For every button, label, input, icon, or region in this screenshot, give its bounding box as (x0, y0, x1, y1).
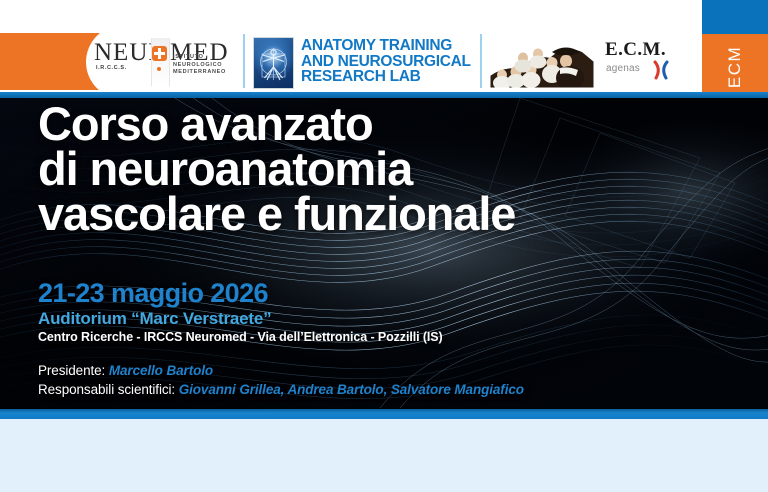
ecm-tab-label: ECM (726, 20, 744, 98)
ecm-agenas-logo[interactable]: E.C.M. agenas (605, 40, 685, 84)
page-title-line1: Corso avanzato (38, 101, 728, 146)
ecm-title: E.C.M. (605, 40, 666, 60)
page-title: Corso avanzato di neuroanatomia vascolar… (38, 101, 728, 236)
vitruvian-man-icon (253, 37, 294, 89)
neuromed-subtitle-line3: MEDITERRANEO (173, 69, 226, 77)
agenas-label: agenas (606, 63, 640, 74)
neuromed-irccs-label: I.R.C.C.S. (96, 65, 127, 71)
neuromed-subtitle: ISTITUTO NEUROLOGICO MEDITERRANEO (173, 54, 226, 77)
anatomy-lab-title: ANATOMY TRAINING AND NEUROSURGICAL RESEA… (301, 38, 476, 85)
event-address: Centro Ricerche - IRCCS Neuromed - Via d… (38, 331, 443, 344)
agenas-x-icon (652, 60, 672, 80)
staff-row-president: Presidente: Marcello Bartolo (38, 361, 738, 380)
neuromed-logo[interactable]: NEUR I.R.C.C.S. MED ISTITUTO NEUROLOGICO… (94, 40, 234, 86)
event-staff: Presidente: Marcello Bartolo Responsabil… (38, 361, 738, 399)
scientific-leads-names: Giovanni Grillea, Andrea Bartolo, Salvat… (179, 382, 524, 397)
scientific-leads-label: Responsabili scientifici: (38, 382, 175, 397)
anatomy-lab-line3: RESEARCH LAB (301, 69, 476, 85)
poster-content: Corso avanzato di neuroanatomia vascolar… (0, 98, 768, 409)
footer-panel (0, 419, 768, 492)
page-title-line3: vascolare e funzionale (38, 191, 728, 236)
anatomy-lesson-painting (490, 36, 594, 88)
neuromed-dot-icon (157, 67, 161, 71)
president-names: Marcello Bartolo (109, 363, 213, 378)
anatomy-lab-line1: ANATOMY TRAINING (301, 38, 476, 54)
header-divider-1 (243, 34, 245, 88)
footer-blue-bar (0, 409, 768, 419)
president-label: Presidente: (38, 363, 105, 378)
page-title-line2: di neuroanatomia (38, 146, 728, 191)
course-poster: ECM NEUR I.R.C.C.S. MED ISTITUTO NEUROLO… (0, 0, 768, 492)
poster-main: Corso avanzato di neuroanatomia vascolar… (0, 98, 768, 409)
poster-header: ECM NEUR I.R.C.C.S. MED ISTITUTO NEUROLO… (0, 0, 768, 98)
event-venue: Auditorium “Marc Verstraete” (38, 310, 271, 327)
neuromed-subtitle-line1: ISTITUTO (173, 54, 226, 62)
header-divider-2 (480, 34, 482, 88)
ecm-tab[interactable]: ECM (702, 34, 768, 98)
neuromed-subtitle-line2: NEUROLOGICO (173, 62, 226, 70)
event-date: 21-23 maggio 2026 (38, 280, 268, 307)
medical-cross-icon (152, 46, 167, 61)
staff-row-scientific-leads: Responsabili scientifici: Giovanni Grill… (38, 380, 738, 399)
anatomy-lab-line2: AND NEUROSURGICAL (301, 54, 476, 70)
